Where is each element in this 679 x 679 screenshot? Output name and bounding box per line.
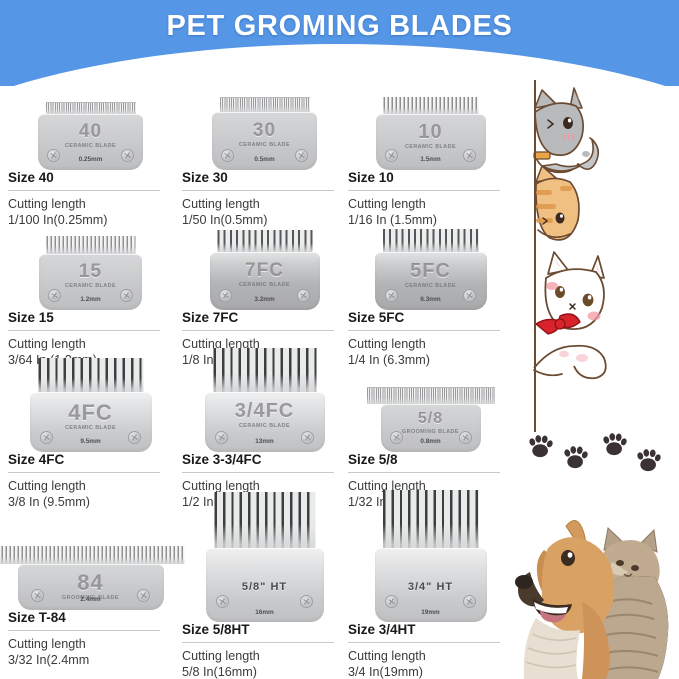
clipper-blade-icon: 7FCCERAMIC BLADE3.2mm bbox=[182, 218, 347, 310]
gray-cat-icon bbox=[534, 88, 598, 172]
blade-screw bbox=[463, 149, 476, 162]
blade-card[interactable]: 5/8GROOMING BLADE0.8mmSize 5/8Cutting le… bbox=[348, 360, 513, 510]
paw-print-icon bbox=[563, 446, 588, 468]
blade-size-label: Size 3/4HT bbox=[348, 622, 513, 638]
blade-screw bbox=[297, 289, 310, 302]
blade-engraved-number: 15 bbox=[39, 261, 142, 283]
blade-teeth bbox=[46, 236, 135, 254]
divider-line bbox=[534, 80, 536, 432]
divider-rule bbox=[348, 190, 500, 191]
divider-rule bbox=[182, 190, 334, 191]
blade-screw bbox=[300, 595, 313, 608]
blade-teeth bbox=[383, 490, 479, 548]
divider-rule bbox=[182, 330, 334, 331]
clipper-blade-icon: 5FCCERAMIC BLADE6.3mm bbox=[348, 218, 513, 310]
blade-engraved-number: 5FC bbox=[375, 260, 487, 283]
blade-size-label: Size 10 bbox=[348, 170, 513, 186]
blade-size-label: Size T-84 bbox=[8, 610, 173, 626]
cutting-length-label: Cutting length bbox=[182, 648, 347, 664]
clipper-blade-icon: 10CERAMIC BLADE1.5mm bbox=[348, 78, 513, 170]
blade-engraved-brand: CERAMIC BLADE bbox=[205, 423, 325, 429]
blade-teeth bbox=[383, 97, 478, 114]
blade-card[interactable]: 7FCCERAMIC BLADE3.2mmSize 7FCCutting len… bbox=[182, 218, 347, 368]
blade-size-label: Size 5/8 bbox=[348, 452, 513, 468]
white-cat-with-red-bow-icon bbox=[534, 252, 606, 378]
orange-tabby-cat-icon bbox=[536, 166, 579, 240]
cutting-length-label: Cutting length bbox=[182, 196, 347, 212]
blade-screw bbox=[385, 289, 398, 302]
clipper-blade-icon: 15CERAMIC BLADE1.2mm bbox=[8, 218, 173, 310]
blade-engraved-mm: 16mm bbox=[206, 609, 324, 616]
paw-print-icon bbox=[528, 435, 553, 457]
blade-teeth bbox=[38, 358, 143, 392]
blade-card[interactable]: 84GROOMING BLADE2.4mmSize T-84Cutting le… bbox=[8, 518, 173, 668]
paw-print-icon bbox=[602, 433, 627, 455]
infographic-page: PET GROMING BLADES 40CERAMIC BLADE0.25mm… bbox=[0, 0, 679, 679]
blade-size-label: Size 40 bbox=[8, 170, 173, 186]
blade-teeth bbox=[220, 97, 310, 112]
clipper-blade-icon: 5/8GROOMING BLADE0.8mm bbox=[348, 360, 513, 452]
clipper-blade-icon: 40CERAMIC BLADE0.25mm bbox=[8, 78, 173, 170]
divider-rule bbox=[182, 642, 334, 643]
blade-engraved-brand: CERAMIC BLADE bbox=[210, 282, 320, 288]
blade-screw bbox=[301, 431, 314, 444]
blade-engraved-brand: CERAMIC BLADE bbox=[375, 283, 487, 289]
divider-rule bbox=[348, 472, 500, 473]
paw-print-icon bbox=[636, 449, 661, 471]
divider-rule bbox=[348, 642, 500, 643]
peeking-cats-illustration bbox=[512, 78, 632, 468]
blade-screw bbox=[128, 431, 141, 444]
blade-screw bbox=[295, 149, 308, 162]
blade-size-label: Size 15 bbox=[8, 310, 173, 326]
blade-size-label: Size 30 bbox=[182, 170, 347, 186]
blade-card[interactable]: 30CERAMIC BLADE0.5mmSize 30Cutting lengt… bbox=[182, 78, 347, 228]
clipper-blade-icon: 4FCCERAMIC BLADE9.5mm bbox=[8, 360, 173, 452]
blade-card[interactable]: 10CERAMIC BLADE1.5mmSize 10Cutting lengt… bbox=[348, 78, 513, 228]
cutting-length-label: Cutting length bbox=[8, 336, 173, 352]
blade-card[interactable]: 5/8" HT16mmSize 5/8HTCutting length5/8 I… bbox=[182, 518, 347, 679]
clipper-blade-icon: 5/8" HT16mm bbox=[182, 518, 347, 622]
blade-engraved-number: 5/8" HT bbox=[206, 581, 324, 593]
blade-card[interactable]: 3/4" HT19mmSize 3/4HTCutting length3/4 I… bbox=[348, 518, 513, 679]
blade-screw bbox=[121, 149, 134, 162]
blade-teeth bbox=[383, 229, 479, 252]
blade-teeth bbox=[213, 348, 316, 392]
blade-size-label: Size 7FC bbox=[182, 310, 347, 326]
blade-engraved-number: 3/4FC bbox=[205, 400, 325, 423]
blade-engraved-mm: 19mm bbox=[375, 609, 487, 616]
blade-screw bbox=[385, 595, 398, 608]
cutting-length-label: Cutting length bbox=[8, 196, 173, 212]
divider-rule bbox=[8, 472, 160, 473]
cutting-length-label: Cutting length bbox=[348, 648, 513, 664]
blade-card[interactable]: 4FCCERAMIC BLADE9.5mmSize 4FCCutting len… bbox=[8, 360, 173, 510]
clipper-blade-icon: 3/4" HT19mm bbox=[348, 518, 513, 622]
cats-svg bbox=[512, 78, 632, 468]
blade-engraved-number: 30 bbox=[212, 120, 317, 142]
blade-size-label: Size 5FC bbox=[348, 310, 513, 326]
cutting-length-value: 3/8 In (9.5mm) bbox=[8, 494, 173, 510]
blade-screw bbox=[120, 289, 133, 302]
cutting-length-label: Cutting length bbox=[348, 196, 513, 212]
blade-engraved-brand: CERAMIC BLADE bbox=[212, 142, 317, 148]
blade-screw bbox=[390, 431, 403, 444]
divider-rule bbox=[8, 190, 160, 191]
blade-teeth bbox=[46, 102, 136, 114]
cutting-length-label: Cutting length bbox=[348, 336, 513, 352]
blade-engraved-number: 7FC bbox=[210, 260, 320, 282]
clipper-blade-icon: 3/4FCCERAMIC BLADE13mm bbox=[182, 360, 347, 452]
blade-size-label: Size 5/8HT bbox=[182, 622, 347, 638]
blade-card[interactable]: 3/4FCCERAMIC BLADE13mmSize 3-3/4FCCuttin… bbox=[182, 360, 347, 510]
paw-prints-row bbox=[528, 432, 674, 492]
cutting-length-value: 3/32 In(2.4mm bbox=[8, 652, 173, 668]
blade-teeth bbox=[0, 546, 184, 564]
dog-and-cat-photo bbox=[508, 506, 679, 679]
clipper-blade-icon: 30CERAMIC BLADE0.5mm bbox=[182, 78, 347, 170]
blade-size-label: Size 3-3/4FC bbox=[182, 452, 347, 468]
clipper-blade-icon: 84GROOMING BLADE2.4mm bbox=[8, 518, 173, 610]
blade-card[interactable]: 5FCCERAMIC BLADE6.3mmSize 5FCCutting len… bbox=[348, 218, 513, 368]
cutting-length-label: Cutting length bbox=[8, 636, 173, 652]
blade-teeth bbox=[217, 230, 312, 252]
page-title: PET GROMING BLADES bbox=[0, 10, 679, 43]
blade-screw bbox=[459, 431, 472, 444]
blade-screw bbox=[216, 595, 229, 608]
blade-engraved-brand: CERAMIC BLADE bbox=[30, 425, 152, 431]
blade-teeth bbox=[367, 387, 495, 404]
divider-rule bbox=[348, 330, 500, 331]
cutting-length-value: 3/4 In(19mm) bbox=[348, 664, 513, 679]
cutting-length-label: Cutting length bbox=[8, 478, 173, 494]
blade-teeth bbox=[214, 492, 315, 548]
blade-engraved-number: 5/8 bbox=[381, 410, 481, 428]
divider-rule bbox=[8, 630, 160, 631]
blade-card[interactable]: 15CERAMIC BLADE1.2mmSize 15Cutting lengt… bbox=[8, 218, 173, 368]
blade-engraved-number: 10 bbox=[376, 121, 486, 144]
blade-card[interactable]: 40CERAMIC BLADE0.25mmSize 40Cutting leng… bbox=[8, 78, 173, 228]
cutting-length-value: 5/8 In(16mm) bbox=[182, 664, 347, 679]
blade-size-label: Size 4FC bbox=[8, 452, 173, 468]
divider-rule bbox=[8, 330, 160, 331]
page-header: PET GROMING BLADES bbox=[0, 0, 679, 86]
blade-engraved-number: 4FC bbox=[30, 400, 152, 426]
blade-engraved-number: 40 bbox=[38, 121, 143, 143]
blade-screw bbox=[463, 595, 476, 608]
blade-engraved-number: 3/4" HT bbox=[375, 581, 487, 593]
divider-rule bbox=[182, 472, 334, 473]
blade-screw bbox=[31, 589, 44, 602]
